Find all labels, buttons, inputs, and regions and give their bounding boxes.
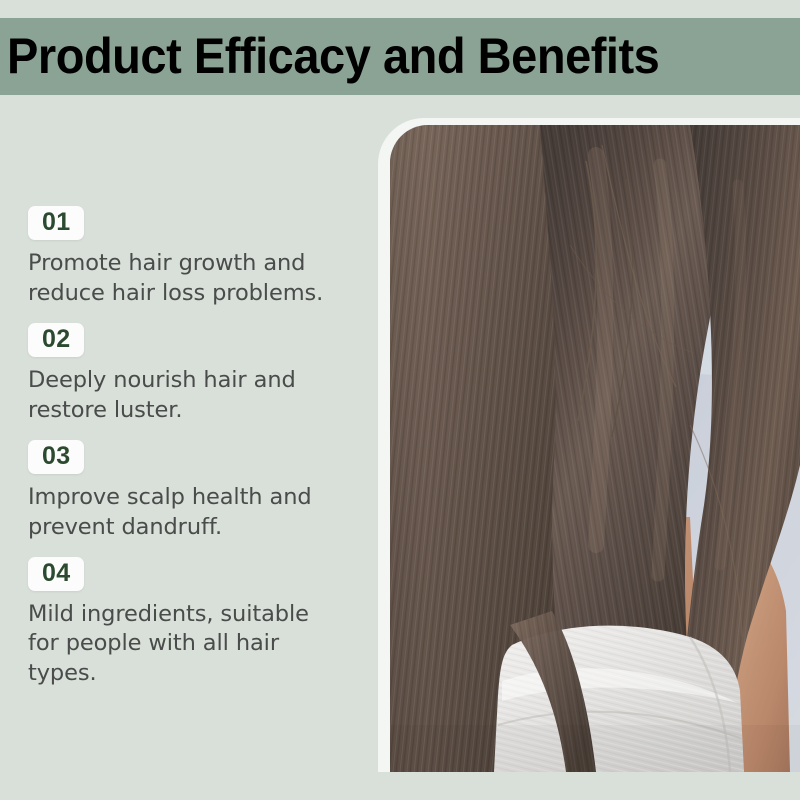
benefit-item-03: 03 Improve scalp health and prevent dand… <box>28 440 358 543</box>
benefit-description: Promote hair growth and reduce hair loss… <box>28 249 340 309</box>
benefits-list: 01 Promote hair growth and reduce hair l… <box>28 206 358 689</box>
benefit-number-label: 03 <box>42 442 70 470</box>
benefit-number-badge: 04 <box>28 557 84 591</box>
benefit-number-label: 04 <box>42 559 70 587</box>
benefit-number-label: 01 <box>42 208 70 236</box>
benefit-description: Improve scalp health and prevent dandruf… <box>28 483 340 543</box>
benefit-description: Mild ingredients, suitable for people wi… <box>28 600 340 690</box>
benefit-item-04: 04 Mild ingredients, suitable for people… <box>28 557 358 690</box>
page-title: Product Efficacy and Benefits <box>7 31 659 81</box>
benefit-number-label: 02 <box>42 325 70 353</box>
benefit-number-badge: 01 <box>28 206 84 240</box>
photo-illustration <box>390 125 800 772</box>
header-band: Product Efficacy and Benefits <box>0 18 800 95</box>
benefit-number-badge: 03 <box>28 440 84 474</box>
product-model-photo <box>390 125 800 772</box>
benefit-item-01: 01 Promote hair growth and reduce hair l… <box>28 206 358 309</box>
benefit-item-02: 02 Deeply nourish hair and restore luste… <box>28 323 358 426</box>
benefit-description: Deeply nourish hair and restore luster. <box>28 366 340 426</box>
benefit-number-badge: 02 <box>28 323 84 357</box>
